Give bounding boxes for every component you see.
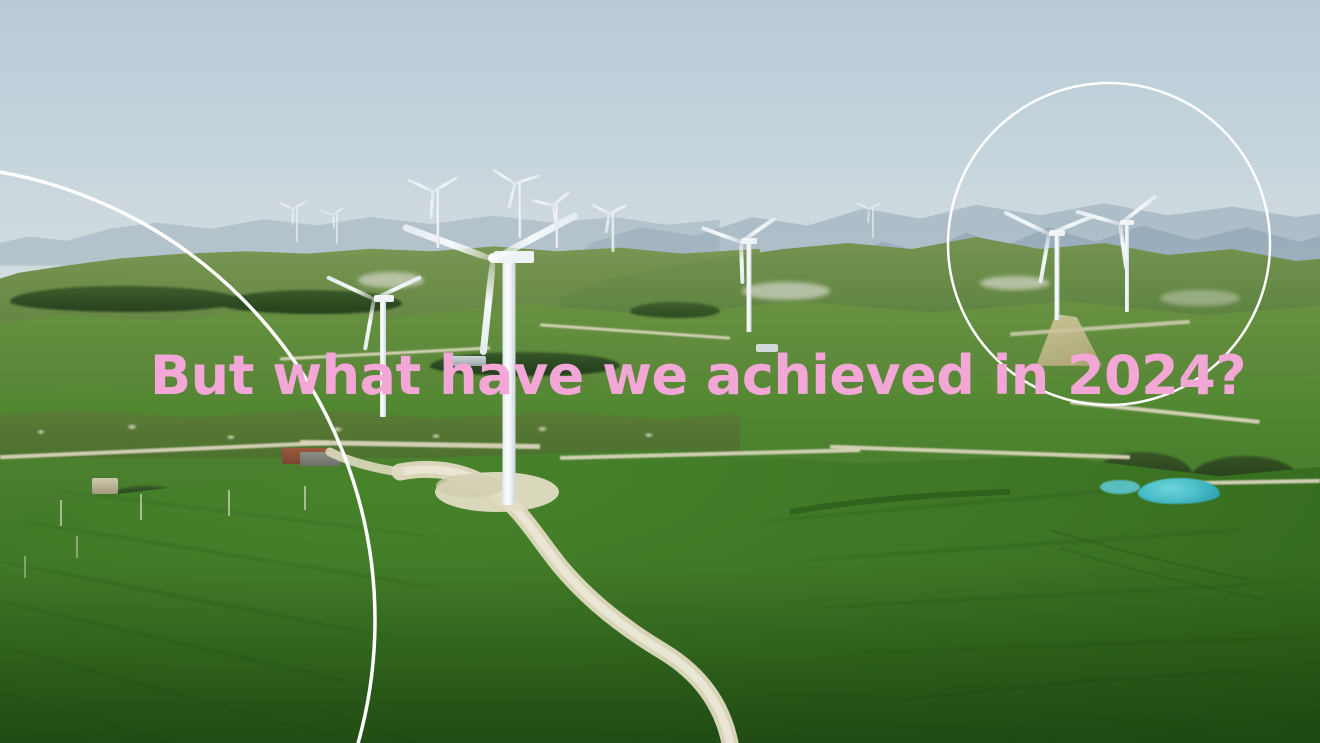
turbine-tower bbox=[436, 190, 439, 248]
turbine-far-g bbox=[872, 208, 873, 238]
turbine-far-c bbox=[556, 204, 557, 248]
turbine-tower bbox=[1054, 232, 1059, 320]
turbine-tower bbox=[518, 182, 521, 238]
video-frame: But what have we achieved in 2024? bbox=[0, 0, 1320, 743]
turbine-far-f bbox=[336, 214, 337, 244]
turbine-far-e bbox=[296, 208, 297, 242]
turbine-midright bbox=[748, 240, 749, 332]
turbine-tower bbox=[872, 208, 874, 238]
turbine-tower bbox=[336, 214, 338, 244]
turbine-far-b bbox=[519, 182, 520, 238]
turbine-tower bbox=[746, 240, 751, 332]
headline-text: But what have we achieved in 2024? bbox=[150, 349, 1246, 403]
turbine-far-d bbox=[612, 212, 613, 252]
turbine-tower bbox=[611, 212, 614, 252]
turbine-ridge-b bbox=[1126, 222, 1127, 312]
turbine-ridge-a bbox=[1056, 232, 1057, 320]
turbine-far-a bbox=[437, 190, 438, 248]
turbine-tower bbox=[296, 208, 298, 242]
